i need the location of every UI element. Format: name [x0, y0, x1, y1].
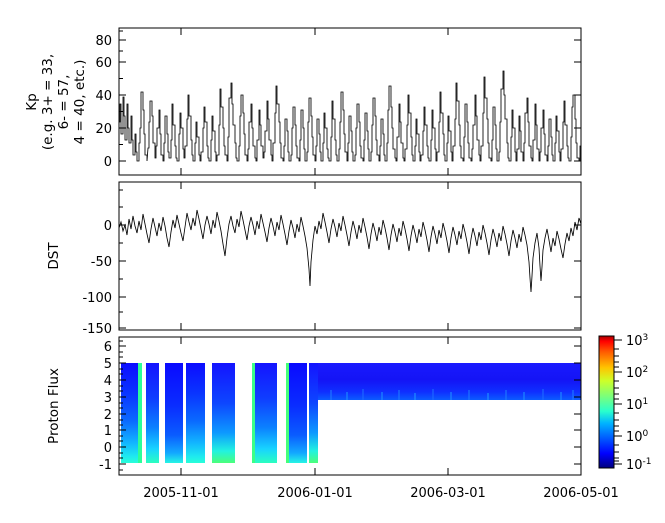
- dst-ylabel: DST: [46, 242, 62, 270]
- proton-ytick-2: 2: [104, 408, 112, 423]
- xtick-2006-03-01: 2006-03-01: [410, 486, 486, 501]
- dst-plot-background: [119, 182, 581, 330]
- flux-block: [138, 363, 142, 463]
- proton-ytick-6: 6: [104, 340, 112, 355]
- flux-block: [289, 363, 307, 463]
- proton-ylabel: Proton Flux: [46, 368, 62, 444]
- dst-ytick-m150: -150: [82, 322, 112, 337]
- xtick-2006-01-01: 2006-01-01: [277, 486, 353, 501]
- proton-ytick-labels: 6 5 4 3 2 1 0 -1: [99, 340, 112, 473]
- kp-ylabel-line-1: (e.g. 3+ = 33,: [40, 54, 56, 150]
- colorbar: 103 102 101 100 10-1: [599, 333, 652, 473]
- kp-ylabel-group: Kp (e.g. 3+ = 33, 6- = 57, 4 = 40, etc.): [24, 54, 88, 150]
- kp-ytick-80: 80: [95, 34, 112, 49]
- flux-block: [286, 363, 289, 463]
- proton-ytick-0: 0: [104, 441, 112, 456]
- proton-ytick-m1: -1: [99, 458, 112, 473]
- dst-ytick-labels: 0 -50 -100 -150: [82, 219, 112, 337]
- figure-canvas: 0 20 40 60 80 Kp (e.g. 3+ = 33, 6- = 57,…: [0, 0, 665, 523]
- flux-block: [255, 363, 277, 463]
- flux-block: [165, 363, 183, 463]
- flux-block: [121, 363, 138, 463]
- kp-ytick-labels: 0 20 40 60 80: [95, 34, 112, 170]
- colorbar-tick-labels: 103 102 101 100 10-1: [626, 333, 652, 473]
- colorbar-label-1e0: 100: [626, 429, 649, 445]
- xtick-2005-11-01: 2005-11-01: [143, 486, 219, 501]
- flux-block: [186, 363, 205, 463]
- flux-block: [212, 363, 235, 463]
- colorbar-gradient: [599, 336, 614, 468]
- flux-block: [309, 363, 318, 463]
- flux-band-late: [318, 363, 581, 400]
- xtick-2006-05-01: 2006-05-01: [543, 486, 619, 501]
- kp-ylabel-line-0: Kp: [24, 93, 40, 110]
- space-weather-figure: 0 20 40 60 80 Kp (e.g. 3+ = 33, 6- = 57,…: [0, 0, 665, 523]
- kp-ylabel-line-2: 6- = 57,: [56, 75, 72, 130]
- dst-ytick-m100: -100: [82, 291, 112, 306]
- panel-dst: 0 -50 -100 -150 DST: [46, 182, 581, 337]
- kp-ytick-40: 40: [95, 89, 112, 104]
- proton-ytick-3: 3: [104, 391, 112, 406]
- kp-ytick-60: 60: [95, 56, 112, 71]
- colorbar-label-1e2: 102: [626, 365, 648, 381]
- panel-kp: 0 20 40 60 80 Kp (e.g. 3+ = 33, 6- = 57,…: [24, 28, 581, 175]
- colorbar-label-1em1: 10-1: [626, 457, 652, 473]
- flux-block: [252, 363, 255, 463]
- dst-ytick-0: 0: [104, 219, 112, 234]
- proton-ytick-4: 4: [104, 374, 112, 389]
- colorbar-label-1e1: 101: [626, 397, 648, 413]
- flux-block: [146, 363, 159, 463]
- kp-ytick-20: 20: [95, 122, 112, 137]
- proton-ytick-1: 1: [104, 424, 112, 439]
- kp-ytick-0: 0: [104, 155, 112, 170]
- colorbar-ticks: [614, 340, 622, 464]
- x-axis-tick-labels: 2005-11-01 2006-01-01 2006-03-01 2006-05…: [143, 486, 619, 501]
- colorbar-label-1e3: 103: [626, 333, 648, 349]
- dst-ytick-m50: -50: [91, 255, 112, 270]
- kp-ylabel-line-3: 4 = 40, etc.): [72, 60, 88, 145]
- proton-ytick-5: 5: [104, 357, 112, 372]
- colorbar-minor-ticks: [614, 349, 619, 461]
- panel-proton-flux: 6 5 4 3 2 1 0 -1 Proton Flux 2005-11-01 …: [46, 337, 619, 501]
